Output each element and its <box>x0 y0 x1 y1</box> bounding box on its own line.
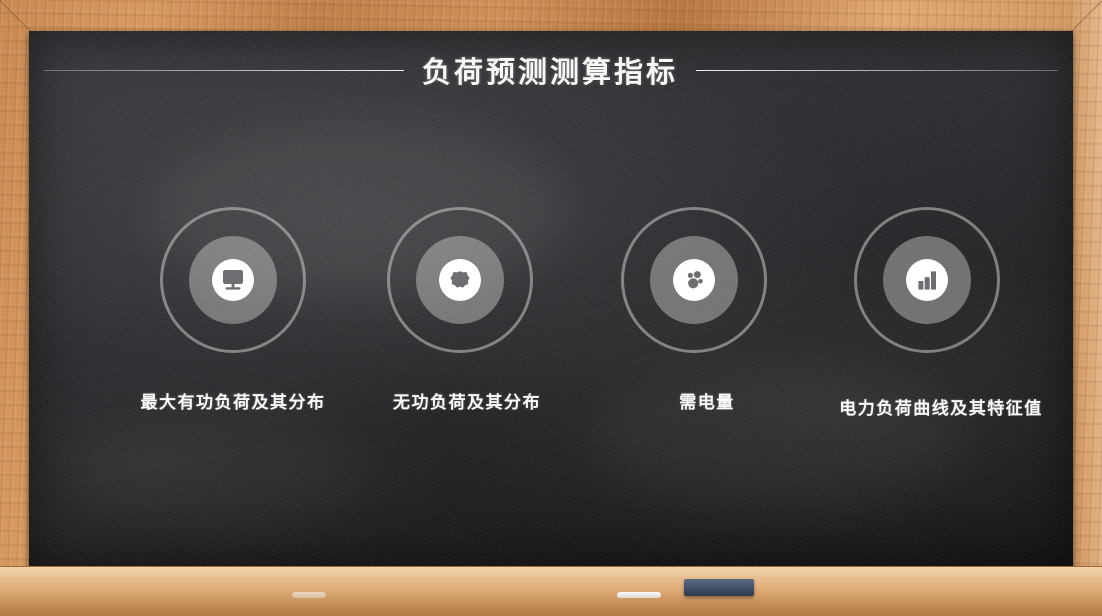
chalk-eraser[interactable] <box>684 579 754 596</box>
chalk-stick[interactable] <box>617 592 661 598</box>
indicator-label-load-curve: 电力负荷曲线及其特征值 <box>713 394 1073 419</box>
chalk-ledge <box>0 566 1102 616</box>
slide-root: 负荷预测测算指标 <box>0 0 1102 616</box>
indicator-labels: 最大有功负荷及其分布 无功负荷及其分布 需电量 电力负荷曲线及其特征值 <box>29 31 1073 569</box>
chalk-stick[interactable] <box>292 592 326 598</box>
frame-right-rail <box>1068 0 1102 616</box>
chalkboard: 负荷预测测算指标 <box>29 31 1073 569</box>
